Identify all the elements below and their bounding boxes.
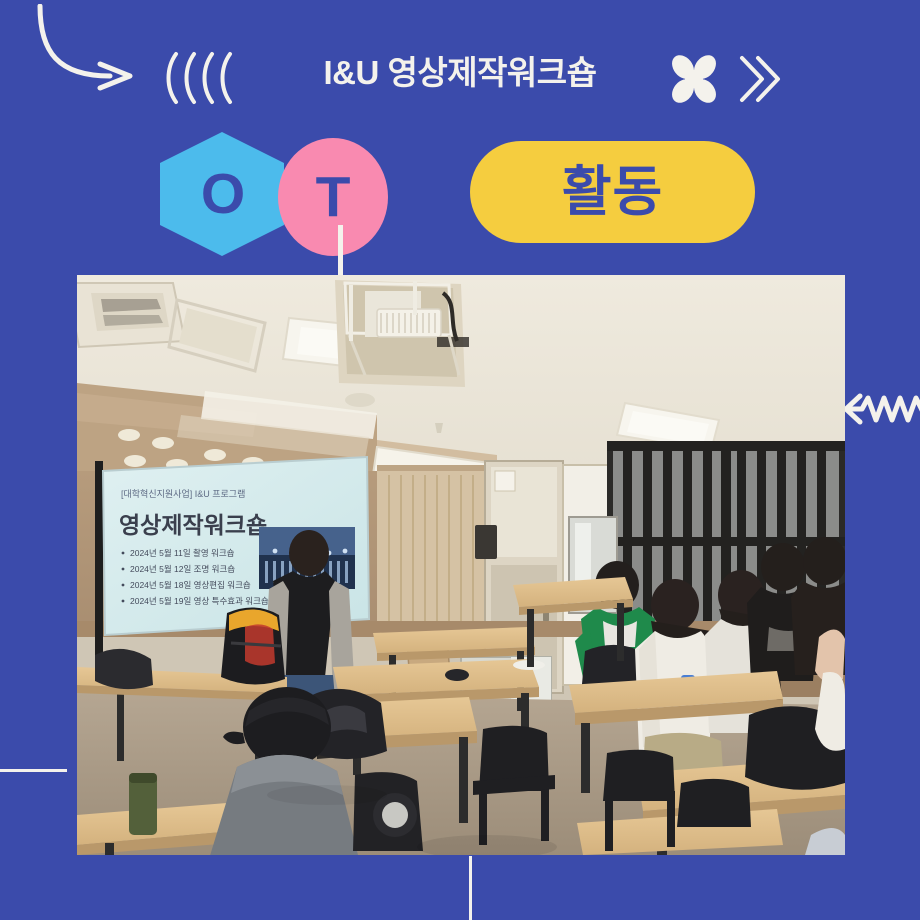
- zigzag-arrow-icon: [838, 392, 920, 431]
- page-title: I&U 영상제작워크숍: [0, 50, 920, 96]
- slide-bullet: 2024년 5월 11일 촬영 워크숍: [130, 548, 235, 558]
- slide-bullet: 2024년 5월 18일 영상편집 워크숍: [130, 580, 251, 590]
- badge-pill-label: 활동: [562, 165, 663, 219]
- poster-card: I&U 영상제작워크숍 O T 활동: [0, 0, 920, 920]
- connector-line-vertical: [338, 225, 343, 275]
- photo-illustration: [대학혁신지원사업] I&U 프로그램 영상제작워크숍: [77, 275, 845, 855]
- slide-heading: 영상제작워크숍: [119, 512, 267, 538]
- slide-bullet: 2024년 5월 19일 영상 특수효과 워크숍: [130, 596, 269, 606]
- badge-ellipse-t[interactable]: T: [278, 138, 388, 256]
- badge-ellipse-label: T: [316, 169, 351, 226]
- slide-bullet: 2024년 5월 12일 조명 워크숍: [130, 564, 235, 574]
- slide-eyebrow: [대학혁신지원사업] I&U 프로그램: [121, 488, 245, 499]
- divider-rule-left: [0, 769, 67, 772]
- badge-pill-activity[interactable]: 활동: [470, 141, 755, 243]
- badge-row: O T 활동: [160, 132, 780, 256]
- badge-hexagon-o[interactable]: O: [160, 132, 284, 256]
- classroom-photo: [대학혁신지원사업] I&U 프로그램 영상제작워크숍: [77, 275, 845, 855]
- divider-rule-bottom: [469, 856, 472, 920]
- badge-hexagon-label: O: [201, 166, 245, 223]
